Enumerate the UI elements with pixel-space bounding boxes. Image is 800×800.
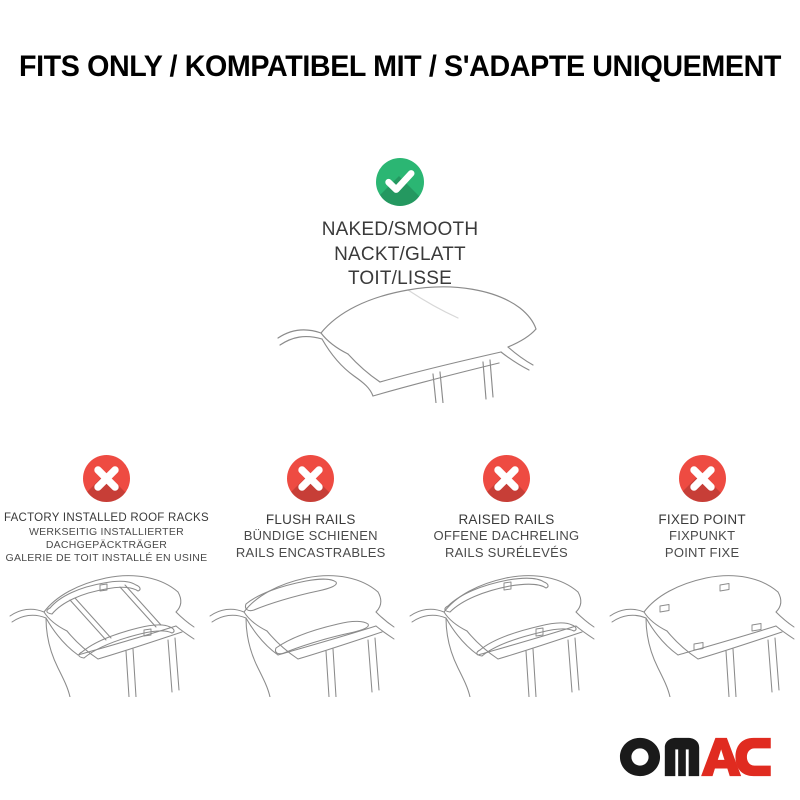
omac-logo [619,736,772,778]
car-roof-factory-racks-illustration [2,552,198,697]
omac-logo-letter-o [620,738,660,776]
omac-logo-letter-c [736,738,771,776]
x-glyph-icon [287,455,334,502]
x-glyph-icon [679,455,726,502]
approved-label-line-1: NAKED/SMOOTH [0,218,800,243]
x-circle-icon [287,455,334,502]
roof-cell-raised-rails [400,552,600,697]
rejected-illustrations-row [0,552,800,697]
page-header: FITS ONLY / KOMPATIBEL MIT / S'ADAPTE UN… [0,50,800,84]
rejected-column-factory-racks: FACTORY INSTALLED ROOF RACKS WERKSEITIG … [0,455,213,566]
rejected-label-line-1: RAISED RAILS [413,511,601,528]
car-roof-flush-rails-illustration [202,552,398,697]
approved-label-line-2: NACKT/GLATT [0,243,800,268]
omac-logo-letter-a [701,738,741,776]
rejected-label-line-1: FLUSH RAILS [217,511,405,528]
car-roof-fixed-point-illustration [602,552,798,697]
car-roof-naked-smooth-illustration [258,278,558,403]
page-title: FITS ONLY / KOMPATIBEL MIT / S'ADAPTE UN… [19,50,781,84]
rejected-label-line-1: FIXED POINT [608,511,796,528]
rejected-label-line-1: FACTORY INSTALLED ROOF RACKS [4,511,209,526]
rejected-label-line-2: WERKSEITIG INSTALLIERTER [4,526,209,539]
rejected-column-flush-rails: FLUSH RAILS BÜNDIGE SCHIENEN RAILS ENCAS… [213,455,409,566]
car-roof-raised-rails-illustration [402,552,598,697]
rejected-label-line-2: OFFENE DACHRELING [413,528,601,545]
roof-cell-factory-racks [0,552,200,697]
roof-cell-fixed-point [600,552,800,697]
rejected-column-raised-rails: RAISED RAILS OFFENE DACHRELING RAILS SUR… [409,455,605,566]
x-glyph-icon [483,455,530,502]
x-circle-icon [679,455,726,502]
rejected-section: FACTORY INSTALLED ROOF RACKS WERKSEITIG … [0,455,800,566]
x-circle-icon [483,455,530,502]
rejected-label-line-2: BÜNDIGE SCHIENEN [217,528,405,545]
check-glyph-icon [376,158,424,206]
rejected-label-line-3: DACHGEPÄCKTRÄGER [4,539,209,552]
approved-section: NAKED/SMOOTH NACKT/GLATT TOIT/LISSE [0,158,800,292]
x-circle-icon [83,455,130,502]
check-circle-icon [376,158,424,206]
x-glyph-icon [83,455,130,502]
roof-cell-flush-rails [200,552,400,697]
rejected-label-line-2: FIXPUNKT [608,528,796,545]
omac-logo-letter-m [665,738,699,776]
rejected-column-fixed-point: FIXED POINT FIXPUNKT POINT FIXE [604,455,800,566]
